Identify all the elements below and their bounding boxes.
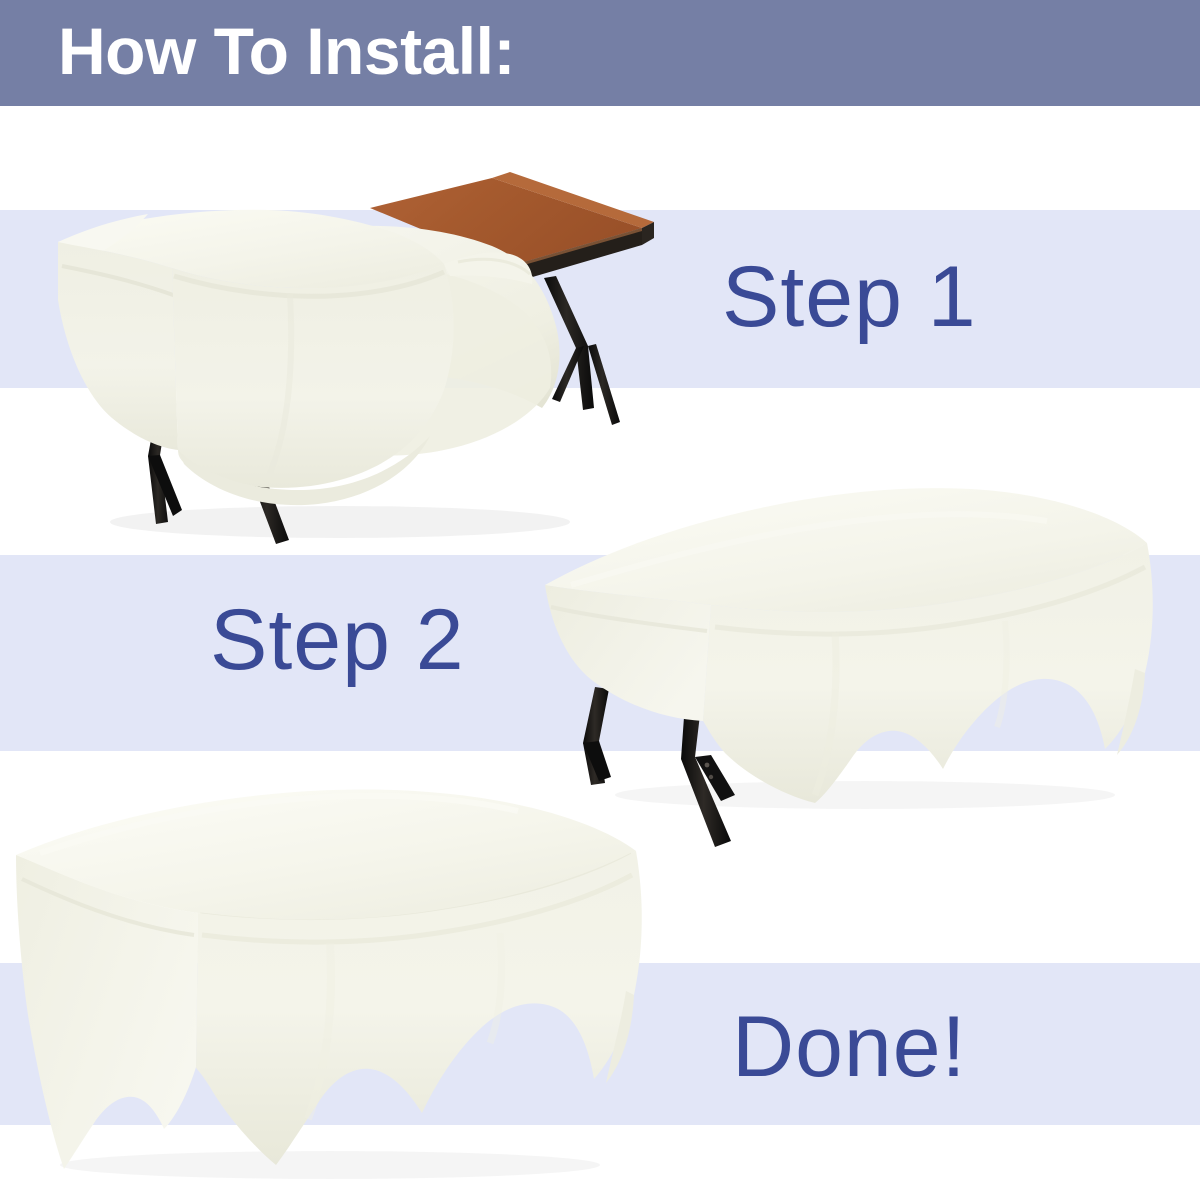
step-1-label: Step 1	[722, 254, 977, 340]
done-label: Done!	[732, 1004, 967, 1090]
how-to-install-infographic: Step 1 Step 2 Done! How To Install:	[0, 0, 1200, 1186]
step-2-label: Step 2	[210, 597, 465, 683]
page-title: How To Install:	[58, 18, 515, 84]
illustration-done	[0, 775, 700, 1185]
header-band: How To Install:	[0, 0, 1200, 106]
